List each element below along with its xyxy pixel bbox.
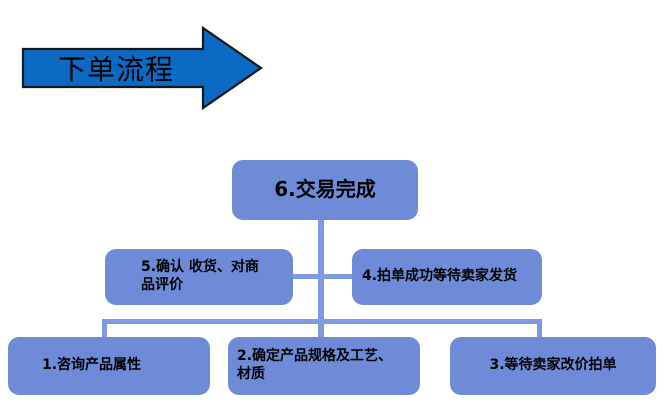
banner-arrow-shape: 下单流程: [18, 22, 266, 114]
flow-node-6-transaction-complete[interactable]: 6.交易完成: [232, 160, 418, 220]
connector-to-node-3: [537, 319, 542, 339]
connector-bottom-bar: [102, 319, 542, 324]
connector-to-node-5: [293, 274, 320, 279]
flow-node-1-label: 1.咨询产品属性: [42, 357, 202, 375]
flow-node-5-label: 5.确认 收货、对商 品评价: [141, 259, 285, 295]
arrow-icon: [18, 22, 266, 114]
flow-node-5-confirm-receipt-review[interactable]: 5.确认 收货、对商 品评价: [105, 249, 293, 305]
flow-node-6-label: 6.交易完成: [232, 177, 418, 203]
flowchart-canvas: 下单流程 6.交易完成 5.确认 收货、对商 品评价 4.拍单成功等待卖家发货 …: [0, 0, 668, 413]
flow-node-3-label: 3.等待卖家改价拍单: [450, 357, 656, 375]
flow-node-2-confirm-specs-craft-material[interactable]: 2.确定产品规格及工艺、 材质: [228, 337, 420, 395]
flow-node-1-inquire-product-attributes[interactable]: 1.咨询产品属性: [8, 337, 210, 395]
flow-node-3-await-seller-price-change[interactable]: 3.等待卖家改价拍单: [450, 337, 656, 395]
flow-node-2-label: 2.确定产品规格及工艺、 材质: [237, 348, 412, 384]
connector-to-node-1: [102, 319, 107, 339]
flow-node-4-order-success-await-shipment[interactable]: 4.拍单成功等待卖家发货: [352, 249, 542, 305]
connector-to-node-4: [322, 274, 353, 279]
flow-node-4-label: 4.拍单成功等待卖家发货: [362, 268, 534, 286]
